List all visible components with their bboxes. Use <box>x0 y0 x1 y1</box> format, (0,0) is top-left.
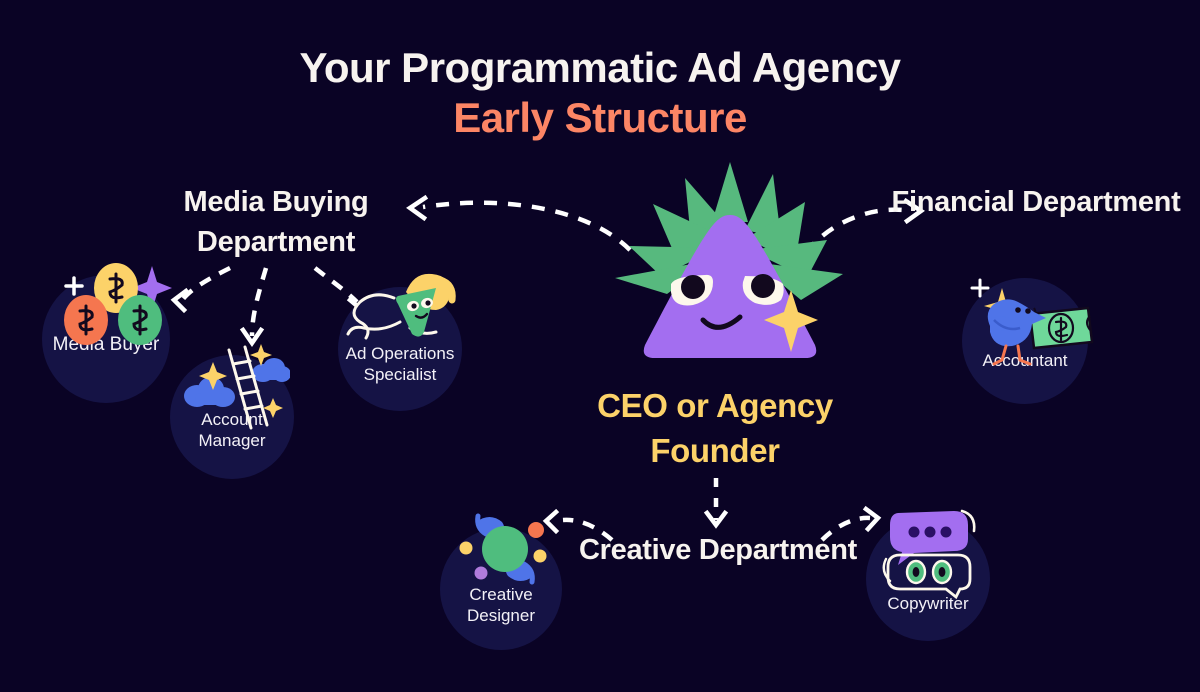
ceo-label: CEO or Agency Founder <box>530 383 900 473</box>
bird-legs <box>994 346 1030 364</box>
bird-money-icon <box>960 270 1100 370</box>
dot-orange <box>528 522 544 538</box>
ladder-clouds-icon <box>175 340 290 430</box>
speech-bubble-dots <box>890 511 974 565</box>
bird-eye <box>1015 307 1021 313</box>
connector-ceo-to-media-buying <box>423 203 630 250</box>
dollar-bill-icon <box>1030 308 1092 348</box>
ceo-avatar-icon <box>615 160 845 375</box>
flower-burst-icon <box>450 512 560 592</box>
flower-center <box>482 526 528 572</box>
sparkle-small-white <box>66 278 82 294</box>
department-label-financial: Financial Department <box>880 182 1192 222</box>
sparkle-small-white <box>972 280 988 296</box>
dot-yellow <box>460 542 473 555</box>
department-label-media-buying: Media Buying Department <box>120 182 432 262</box>
org-chart-infographic: Your Programmatic Ad Agency Early Struct… <box>0 0 1200 692</box>
connector-media-buying-to-media-buyer <box>183 268 230 299</box>
dot-yellow-2 <box>534 550 547 563</box>
department-label-creative: Creative Department <box>562 530 874 570</box>
speech-bubbles-icon <box>876 505 996 600</box>
page-title-line2: Early Structure <box>0 94 1200 142</box>
connector-media-buying-to-account-manager <box>252 268 266 336</box>
arrowhead-media-buyer <box>174 291 186 310</box>
dot-purple <box>475 567 488 580</box>
page-title-line1: Your Programmatic Ad Agency <box>0 44 1200 92</box>
coins-icon <box>54 258 174 348</box>
flying-hero-icon <box>340 270 460 355</box>
speech-bubble-eyes <box>884 555 970 597</box>
star-sparkle <box>199 344 283 418</box>
hero-body-icon <box>396 288 436 337</box>
